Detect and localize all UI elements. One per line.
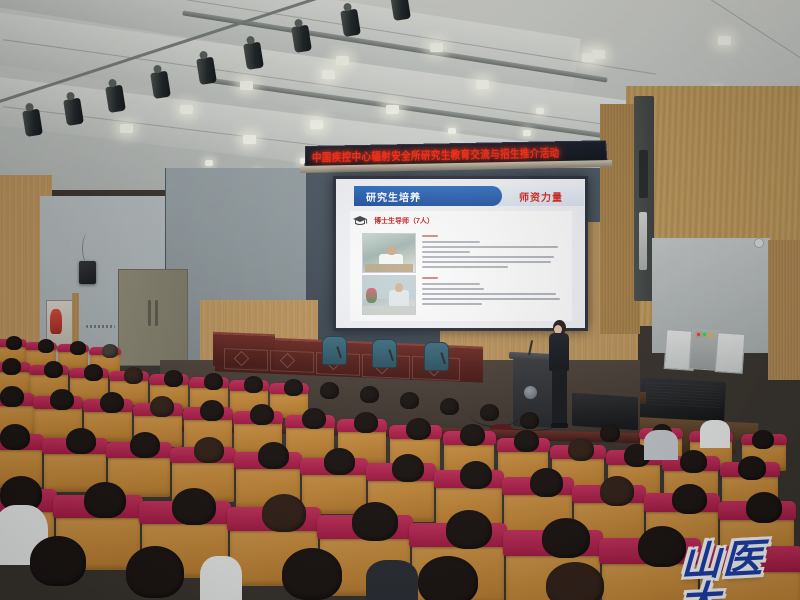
audience-head [38,339,54,353]
audience-head [568,438,594,461]
speaker-legs [552,369,567,425]
audience-shoulder [644,430,678,460]
photo-subject-body [389,290,409,307]
faculty-text-line [422,246,558,248]
speaker-grill [645,382,721,409]
electrical-panel-right [715,332,746,374]
wall-column-dark [634,96,654,301]
right-edge-wood [768,240,800,380]
audience-head [204,373,223,390]
audience-head [2,358,21,375]
photo-subject-head [387,245,396,255]
audience-head [400,392,419,409]
faculty-photo-1 [362,233,416,273]
audience-shoulder [200,556,242,600]
audience-head [530,468,563,497]
ceiling-downlight [310,120,323,129]
stage-chair [322,336,347,365]
speaker-torso [549,333,569,371]
speaker-cable [82,234,93,263]
audience-head [738,456,766,480]
faculty-text-line [422,241,480,243]
panel-led-green [703,333,706,336]
photo-desk [363,306,415,314]
ceiling-downlight [322,70,335,79]
audience-head [746,492,782,523]
extinguisher-icon [50,309,62,334]
ceiling-downlight [718,36,731,45]
audience-head [70,341,86,355]
faculty-text-line [422,266,508,268]
faculty-text-line [422,303,482,305]
audience-head [44,361,63,378]
ceiling-downlight [243,135,256,144]
audience-head [600,424,620,442]
audience-head [102,344,118,358]
audience-head [406,418,431,440]
audience-shoulder [700,420,730,448]
slide-header-left-text: 研究生培养 [366,189,421,204]
audience-head [84,482,126,518]
slide-header: 研究生培养 师资力量 [336,186,585,206]
audience-head [446,510,492,549]
ceiling-downlight [523,130,531,136]
audience-head-foreground [282,548,342,600]
audience-head [130,432,160,458]
stage-spotlight [390,0,411,21]
stage-chair [372,339,397,368]
audience-head [752,430,774,449]
wall-vent-strip [639,212,647,270]
ceiling-downlight [476,80,489,89]
wall-grille-left [86,325,115,328]
ceiling-downlight [240,81,253,90]
ceiling-downlight [582,53,595,62]
faculty-text-line [422,261,551,263]
faculty-photo-2 [362,275,416,315]
audience-head [514,430,539,452]
slide-body: 博士生导师（7人） [350,211,572,321]
ceiling-downlight [180,105,193,114]
audience-head [320,382,339,399]
audience-shoulder [366,560,418,600]
door-handle[interactable] [148,300,151,326]
ceiling-downlight [430,43,443,52]
photo-flowers [366,288,377,303]
audience-head [392,454,424,482]
faculty-text-line [422,288,484,290]
audience-head [480,404,499,421]
faculty-name-1 [422,235,438,237]
auditorium-photo: 中国疾控中心辐射安全所研究生教育交流与招生推介活动 研究生培养 师资力量 博士生… [0,0,800,600]
audience-head-foreground [126,546,184,598]
audience-head [164,370,183,387]
audience-head [258,442,289,469]
audience-head [302,408,326,429]
projection-screen: 研究生培养 师资力量 博士生导师（7人） [333,176,588,331]
audience-head [284,379,303,396]
audience-head [194,437,224,463]
faculty-text-line [422,251,470,253]
audience-head [244,376,263,393]
audience-head [360,386,379,403]
audience-head [150,396,174,417]
audience-head [638,526,686,567]
audience-head [0,386,24,407]
ceiling-downlight [205,160,213,166]
faculty-text-line [422,293,556,295]
audience-head [84,364,103,381]
audience-head [6,336,22,350]
section-title-text: 博士生导师 [374,218,409,225]
presentation-slide: 研究生培养 师资力量 博士生导师（7人） [336,179,585,328]
photo-subject-head [395,283,403,292]
watermark-logo: 山医大 [679,537,800,600]
audience-head [672,484,707,514]
graduation-cap-icon [352,215,368,228]
audience-head-foreground [30,536,86,586]
faculty-text-line [422,256,554,258]
stage-chair [424,342,449,371]
audience-head [66,428,96,454]
audience-head-foreground [546,562,604,600]
panel-led-amber [709,334,712,337]
wall-speaker-left [79,261,96,284]
photo-desk [365,264,413,272]
audience-head [172,488,216,525]
door-handle[interactable] [155,300,158,326]
audience-head [600,476,634,506]
audience-head [352,502,398,541]
audience-head [460,461,492,489]
audience-head-foreground [418,556,478,600]
faculty-name-2 [422,277,438,279]
audience-head [460,424,485,446]
audience-head [324,448,355,475]
audience-head [262,494,306,532]
wall-sensor-icon [754,238,764,248]
audience-head [680,450,707,473]
slide-section-title: 博士生导师（7人） [374,216,434,226]
panel-led-red [697,333,700,336]
faculty-text-line [422,283,480,285]
audience-head [0,424,30,450]
ceiling-downlight [120,124,133,133]
ceiling-downlight [386,105,399,114]
podium-emblem [524,386,537,399]
audience-head [542,518,590,558]
ceiling-downlight [336,56,349,65]
audience-head [354,412,378,433]
ceiling-downlight [536,108,544,114]
hall-door-left[interactable] [118,269,188,366]
audience-head [520,412,539,429]
wall-slot-dark [639,150,648,198]
faculty-text-line [422,298,560,300]
section-count-text: （7人） [409,218,434,225]
audience-head [50,389,74,410]
audience-head [100,392,124,413]
audience-head [440,398,459,415]
slide-header-right-text: 师资力量 [519,189,563,204]
audience-head [200,400,224,421]
audience-head [250,404,274,425]
ceiling-downlight [448,128,456,134]
audience-head [124,367,143,384]
